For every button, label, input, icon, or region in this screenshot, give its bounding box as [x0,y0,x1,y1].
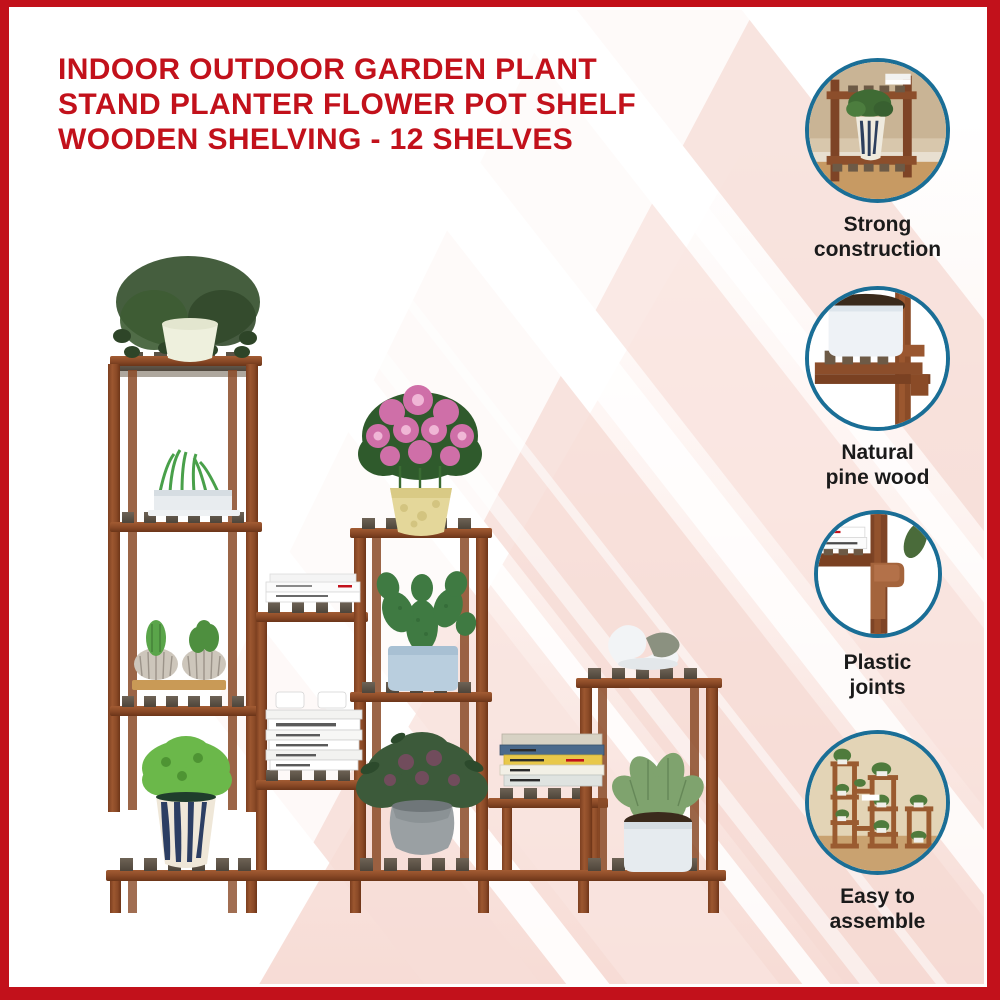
post-right-inner [706,682,718,880]
item-book-boxes-small [266,574,360,602]
shelf-slats-center-bottom [346,858,496,913]
frame-top-border [0,0,1000,7]
feature-label-plastic-joints: Plastic joints [775,650,980,700]
shelf-slats-left-low [110,696,262,716]
frame-bottom-border [0,987,1000,1000]
feature-label-natural-pine-wood: Natural pine wood [775,440,980,490]
item-grass-plant [148,450,240,516]
product-photo [70,240,770,920]
feature-list: Strong construction [775,58,980,973]
product-marketing-image: INDOOR OUTDOOR GARDEN PLANT STAND PLANTE… [0,0,1000,1000]
title-line-2: STAND PLANTER FLOWER POT SHELF [58,87,758,122]
post-left-outer [108,364,120,812]
feature-plastic-joints: Plastic joints [775,510,980,700]
feature-label-easy-to-assemble: Easy to assemble [775,884,980,934]
page-title: INDOOR OUTDOOR GARDEN PLANT STAND PLANTE… [58,52,758,157]
title-line-1: INDOOR OUTDOOR GARDEN PLANT [58,52,758,87]
post-center-right [476,530,488,875]
item-pink-flower-plant [358,385,482,536]
item-book-stack-tall [266,692,362,770]
shelf-closeup-photo [805,58,950,203]
item-zebra-striped-pot-plant [142,736,232,868]
pine-wood-closeup-photo [805,286,950,431]
item-small-cactus-pair [132,620,226,690]
item-book-stack-colourful [500,734,604,786]
frame-right-border [987,0,1000,1000]
assembled-stand-photo [805,730,950,875]
shelf-slats-right-top [576,668,722,688]
feature-natural-pine-wood: Natural pine wood [775,286,980,490]
title-line-3: WOODEN SHELVING - 12 SHELVES [58,122,758,157]
rail-bottom-left [256,870,356,881]
shelf-books-left [256,770,360,790]
plastic-joint-closeup-photo [814,510,942,638]
feature-strong-construction: Strong construction [775,58,980,262]
item-trailing-ivy-plant [113,256,260,362]
feature-easy-to-assemble: Easy to assemble [775,730,980,934]
feature-label-strong-construction: Strong construction [775,212,980,262]
item-white-decor-object [608,625,679,670]
frame-left-border [0,0,9,1000]
